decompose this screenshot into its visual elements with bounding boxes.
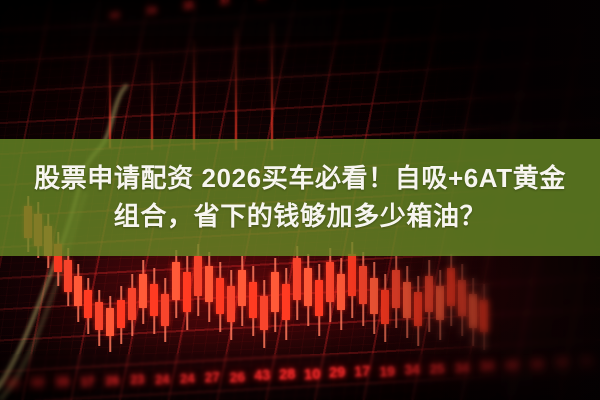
headline-banner: 股票申请配资 2026买车必看！自吸+6AT黄金 组合，省下的钱够加多少箱油？ — [0, 139, 600, 256]
headline-line-2: 组合，省下的钱够加多少箱油？ — [114, 199, 486, 235]
screenshot-root: 40393837392740 1412151726232424272643281… — [0, 0, 600, 400]
headline-line-1: 股票申请配资 2026买车必看！自吸+6AT黄金 — [34, 161, 566, 197]
